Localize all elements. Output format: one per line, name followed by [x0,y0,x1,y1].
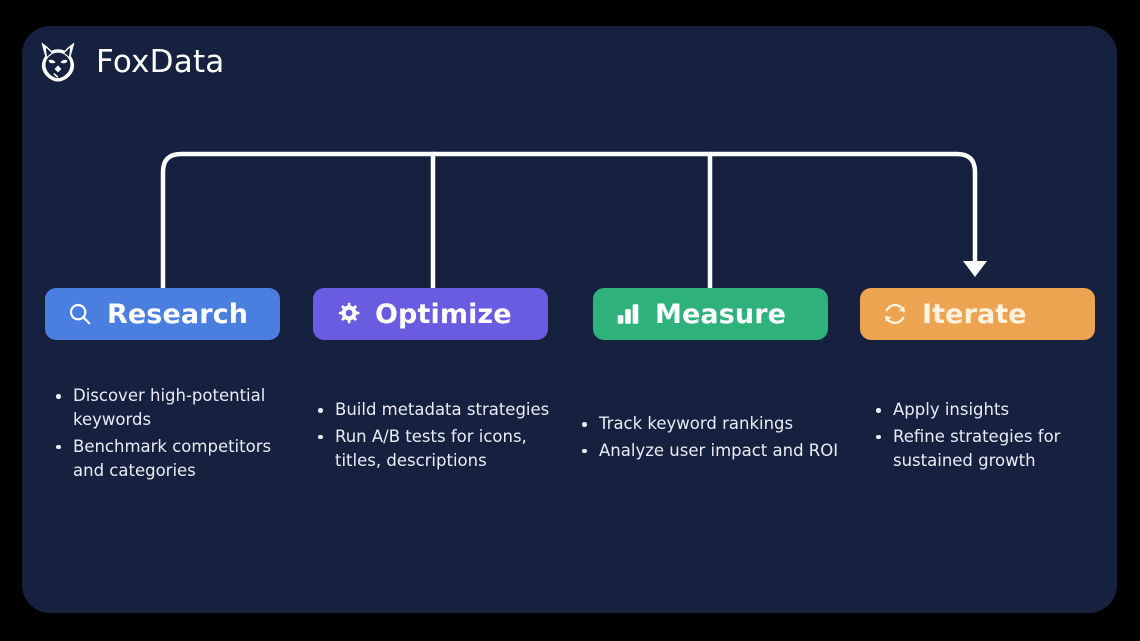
stage-label-measure: Measure [655,301,786,328]
stage-bullets-measure: Track keyword rankings Analyze user impa… [578,412,848,466]
stage-label-optimize: Optimize [375,301,512,328]
bar-chart-icon [615,301,641,327]
connector-trunk [163,154,975,288]
stage-badge-measure[interactable]: Measure [593,288,828,340]
stage-bullets-optimize: Build metadata strategies Run A/B tests … [314,398,554,476]
brand-name: FoxData [96,47,225,78]
brand-header: FoxData [34,38,225,86]
list-item: Discover high-potential keywords [52,384,282,432]
fox-head-icon [34,38,82,86]
search-icon [67,301,93,327]
list-item: Apply insights [872,398,1092,422]
list-item: Build metadata strategies [314,398,554,422]
refresh-cycle-icon [882,301,908,327]
stage-bullets-iterate: Apply insights Refine strategies for sus… [872,398,1092,476]
screenshot-root: FoxData Research Optimize [0,0,1140,641]
list-item: Run A/B tests for icons, titles, descrip… [314,425,554,473]
stage-bullets-research: Discover high-potential keywords Benchma… [52,384,282,486]
gear-icon [335,301,361,327]
stage-badge-iterate[interactable]: Iterate [860,288,1095,340]
list-item: Analyze user impact and ROI [578,439,848,463]
stage-label-research: Research [107,301,248,328]
stage-badge-optimize[interactable]: Optimize [313,288,548,340]
stage-badge-research[interactable]: Research [45,288,280,340]
content-card: FoxData Research Optimize [22,26,1117,613]
list-item: Benchmark competitors and categories [52,435,282,483]
list-item: Track keyword rankings [578,412,848,436]
connector-arrowhead [963,261,987,277]
list-item: Refine strategies for sustained growth [872,425,1092,473]
stage-label-iterate: Iterate [922,301,1027,328]
